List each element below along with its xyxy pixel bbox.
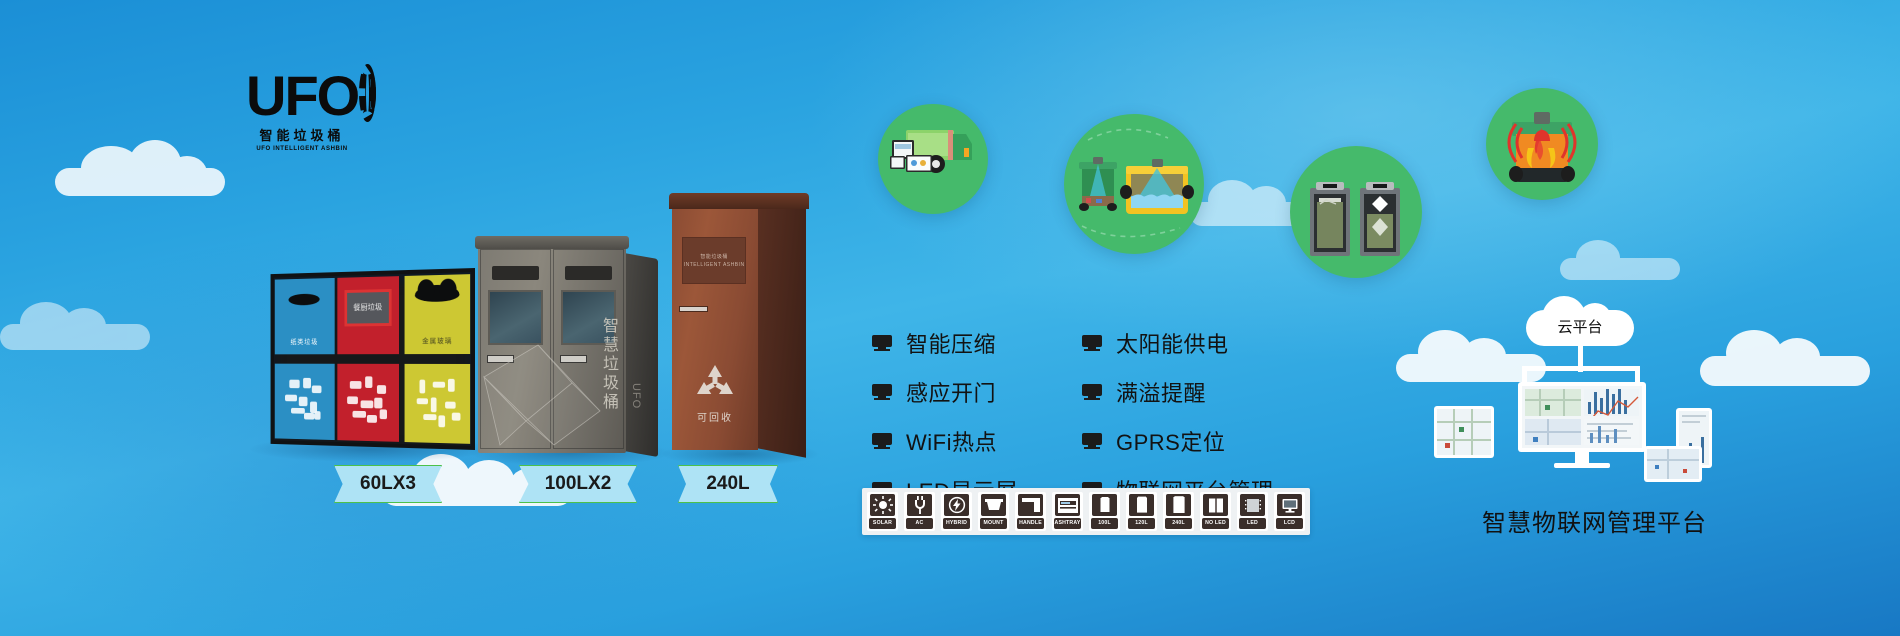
cloud-decoration [0, 300, 150, 354]
device-laptop [1644, 446, 1702, 482]
cloud-decoration [55, 140, 225, 200]
monitor-bullet-icon [872, 433, 892, 449]
no-led-panel-icon [1203, 494, 1228, 516]
feature-label: 智能压缩 [906, 327, 996, 359]
device-tablet [1434, 406, 1494, 458]
compartment-paper-upper: 纸类垃圾 [275, 278, 335, 354]
option-hybrid[interactable]: HYBRID [941, 492, 972, 531]
compartment-label: 纸类垃圾 [275, 337, 335, 347]
capacity-badge-60lx3: 60LX3 [334, 465, 442, 503]
wall-mount-icon [981, 494, 1006, 516]
feature-item: GPRS定位 [1082, 425, 1274, 457]
monitor-bullet-icon [1082, 433, 1102, 449]
option-100l[interactable]: 100L [1089, 492, 1120, 531]
led-screen [488, 290, 543, 345]
cloud-decoration [1560, 240, 1680, 282]
option-120l[interactable]: 120L [1126, 492, 1157, 531]
screen-slot-icon: 餐厨垃圾 [344, 289, 391, 327]
dashboard-table-widget [1584, 419, 1640, 446]
option-label: HYBRID [943, 518, 970, 529]
brand-name-cn: 智能垃圾桶 [246, 125, 358, 144]
led-panel-icon [1240, 494, 1265, 516]
feature-item: WiFi热点 [872, 425, 1018, 457]
monitor-bullet-icon [1082, 384, 1102, 400]
dashboard-map-widget [1525, 389, 1581, 416]
option-label: LCD [1276, 518, 1303, 529]
option-label: 100L [1091, 518, 1118, 529]
single-bin-label: 可回收 [694, 409, 736, 424]
recycle-icon [694, 363, 736, 401]
power-plug-icon [907, 494, 932, 516]
litter-graphic [281, 373, 329, 431]
product-double-bin: 智慧垃圾桶 UFO [478, 245, 658, 453]
option-icon-strip: SOLAR AC HYBRID MOUNT [862, 488, 1310, 535]
monitor-bullet-icon [1082, 335, 1102, 351]
compartment-label: 餐厨垃圾 [347, 292, 389, 324]
double-bin-body-text: 智慧垃圾桶 [596, 317, 620, 412]
garbage-truck-and-devices-icon [878, 104, 988, 214]
option-label: HANDLE [1017, 518, 1044, 529]
screen-line-2: INTELLIGENT ASHBIN [684, 262, 745, 268]
option-lcd[interactable]: LCD [1274, 492, 1305, 531]
badge-label: 100LX2 [545, 473, 612, 495]
badge-label: 240L [706, 473, 749, 495]
capacity-badge-240l: 240L [678, 465, 778, 503]
device-monitor [1518, 382, 1646, 468]
option-ashtray[interactable]: ASHTRAY [1052, 492, 1083, 531]
feature-label: 太阳能供电 [1116, 327, 1229, 359]
highlight-circle-fire-alarm-detection [1486, 88, 1598, 200]
litter-graphic [411, 373, 463, 434]
option-no-led[interactable]: NO LED [1200, 492, 1231, 531]
sun-icon [870, 494, 895, 516]
brand-name-en: UFO INTELLIGENT ASHBIN [246, 146, 358, 152]
highlight-circle-fleet-management [878, 104, 988, 214]
screen-line-1: 智能垃圾桶 [700, 253, 728, 260]
cloud-slot-icon [415, 284, 459, 302]
product-single-bin: 智能垃圾桶 INTELLIGENT ASHBIN 可回收 [672, 196, 804, 454]
connector-bar [1522, 366, 1640, 371]
compartment-label: 金属玻璃 [405, 336, 470, 346]
oval-slot-icon [289, 294, 320, 306]
option-label: NO LED [1202, 518, 1229, 529]
product-triple-bin: 纸类垃圾 餐厨垃圾 [271, 268, 475, 450]
option-ac[interactable]: AC [904, 492, 935, 531]
badge-label: 60LX3 [360, 473, 416, 495]
litter-graphic [343, 373, 393, 432]
lcd-panel-icon [1277, 494, 1302, 516]
bin-fire-alarm-icon [1486, 88, 1598, 200]
compaction-bins-icon [1290, 146, 1422, 278]
feature-label: 感应开门 [906, 376, 996, 408]
info-screen: 智能垃圾桶 INTELLIGENT ASHBIN [682, 237, 746, 284]
highlight-circle-fill-level-sensing [1064, 114, 1204, 254]
option-led[interactable]: LED [1237, 492, 1268, 531]
brand-wordmark: UFO [246, 70, 358, 122]
feature-label: 满溢提醒 [1116, 376, 1206, 408]
gear-ring-icon [359, 64, 376, 122]
option-handle[interactable]: HANDLE [1015, 492, 1046, 531]
compartment-kitchen-upper: 餐厨垃圾 [337, 276, 399, 354]
option-label: LED [1239, 518, 1266, 529]
option-240l[interactable]: 240L [1163, 492, 1194, 531]
option-label: AC [906, 518, 933, 529]
compartment-metal-glass-upper: 金属玻璃 [405, 274, 470, 354]
option-label: 240L [1165, 518, 1192, 529]
cloud-platform-label: 云平台 [1526, 296, 1634, 348]
double-bin-side-text: UFO [630, 383, 642, 409]
ashtray-icon [1055, 494, 1080, 516]
feature-item: 太阳能供电 [1082, 327, 1274, 359]
compartment-paper-lower [275, 364, 335, 440]
option-label: SOLAR [869, 518, 896, 529]
feature-label: WiFi热点 [906, 425, 997, 457]
iot-platform-diagram: 云平台 [1430, 296, 1760, 486]
feature-item: 满溢提醒 [1082, 376, 1274, 408]
feature-label: GPRS定位 [1116, 425, 1225, 457]
dashboard-map-widget [1525, 419, 1581, 446]
cloud-platform-badge: 云平台 [1526, 296, 1634, 348]
option-label: 120L [1128, 518, 1155, 529]
handle-icon [1018, 494, 1043, 516]
option-label: MOUNT [980, 518, 1007, 529]
monitor-bullet-icon [872, 384, 892, 400]
brand-logo: UFO 智能垃圾桶 UFO INTELLIGENT ASHBIN [246, 60, 376, 152]
capacity-badge-100lx2: 100LX2 [519, 465, 637, 503]
option-mount[interactable]: MOUNT [978, 492, 1009, 531]
bin-120l-icon [1129, 494, 1154, 516]
platform-title: 智慧物联网管理平台 [1482, 503, 1707, 538]
feature-item: 感应开门 [872, 376, 1018, 408]
hybrid-power-icon [944, 494, 969, 516]
feature-item: 智能压缩 [872, 327, 1018, 359]
deposit-slot-icon [679, 306, 708, 312]
option-solar[interactable]: SOLAR [867, 492, 898, 531]
option-label: ASHTRAY [1054, 518, 1081, 529]
bin-100l-icon [1092, 494, 1117, 516]
monitor-bullet-icon [872, 335, 892, 351]
highlight-circle-waste-compaction [1290, 146, 1422, 278]
compartment-kitchen-lower [337, 364, 399, 442]
dashboard-chart-widget [1584, 389, 1640, 416]
bin-240l-icon [1166, 494, 1191, 516]
bin-sensor-fill-level-icon [1064, 114, 1204, 254]
compartment-metal-glass-lower [405, 364, 470, 444]
